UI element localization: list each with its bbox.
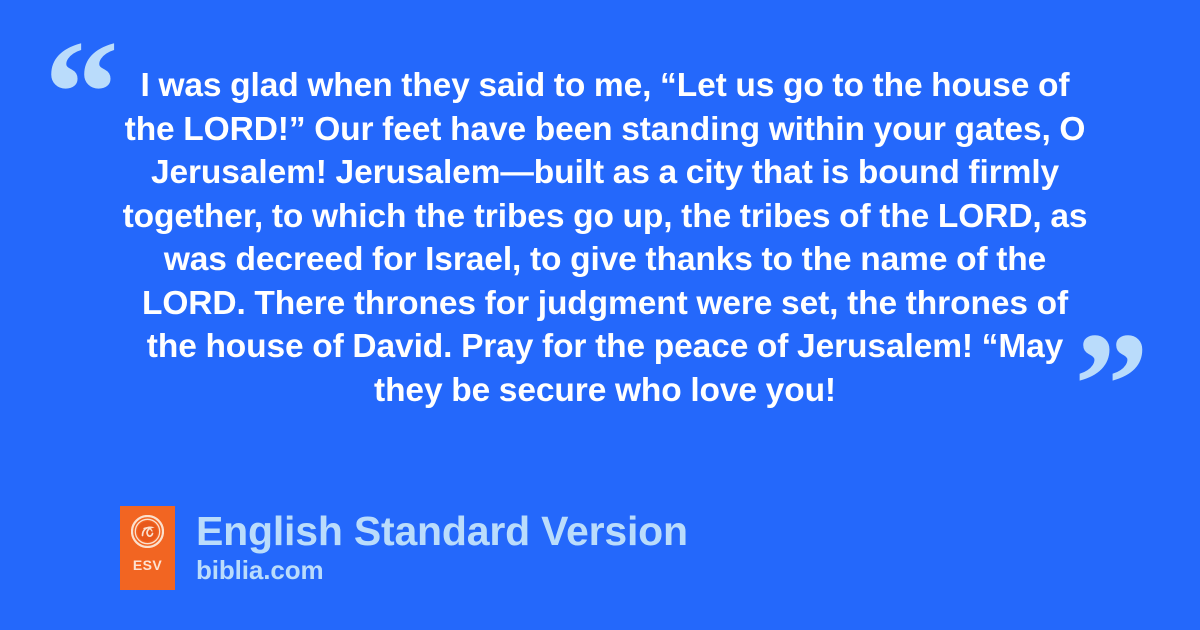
quote-text: I was glad when they said to me, “Let us… (120, 64, 1090, 412)
attribution-footer: ESV English Standard Version biblia.com (120, 506, 688, 590)
esv-logo-abbr: ESV (133, 558, 162, 572)
site-url-label: biblia.com (196, 555, 688, 585)
quote-block: I was glad when they said to me, “Let us… (120, 64, 1090, 412)
quote-card: “ I was glad when they said to me, “Let … (0, 0, 1200, 630)
open-quote-icon: “ (44, 18, 119, 168)
esv-logo-badge: ESV (120, 506, 175, 590)
attribution-text: English Standard Version biblia.com (196, 506, 688, 585)
bible-version-name: English Standard Version (196, 508, 688, 554)
esv-seal-icon (131, 515, 164, 548)
close-quote-icon: ” (1074, 310, 1149, 460)
